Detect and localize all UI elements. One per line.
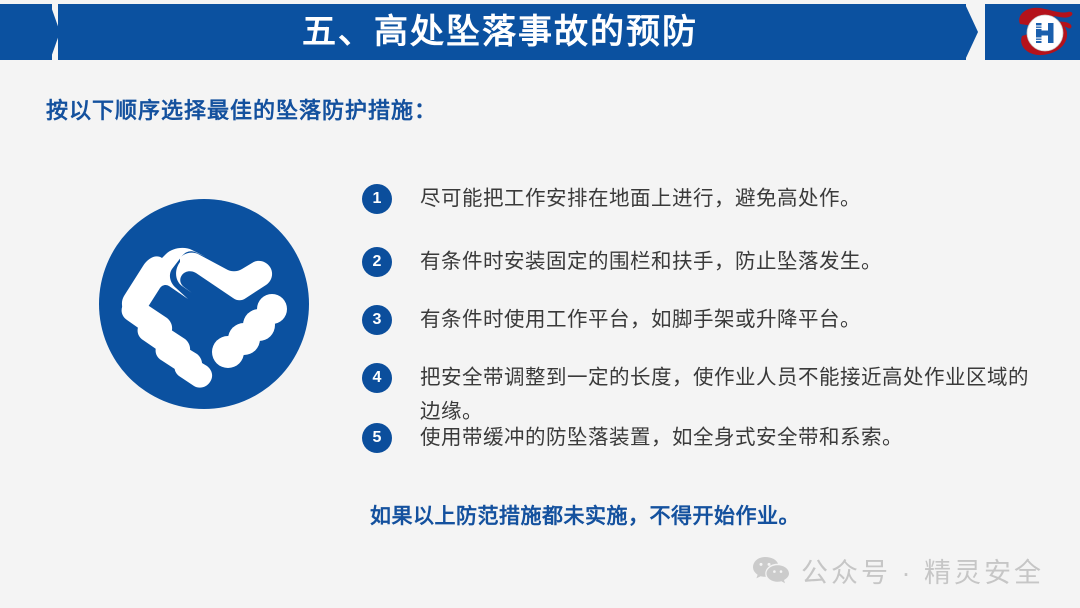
watermark: 公众号 · 精灵安全	[753, 551, 1044, 590]
wechat-icon	[753, 556, 789, 586]
list-item-text: 有条件时使用工作平台，如脚手架或升降平台。	[420, 303, 1030, 337]
list-item-number: 3	[362, 305, 392, 335]
list-item-text: 尽可能把工作安排在地面上进行，避免高处作。	[420, 182, 1030, 216]
company-logo	[1014, 2, 1076, 62]
list-item-text: 使用带缓冲的防坠落装置，如全身式安全带和系索。	[420, 421, 1030, 455]
list-item-number: 2	[362, 247, 392, 277]
header-bar: 五、高处坠落事故的预防	[0, 0, 1080, 62]
handshake-icon	[96, 196, 312, 412]
watermark-text: 公众号 · 精灵安全	[801, 551, 1044, 590]
list-item-text: 把安全带调整到一定的长度，使作业人员不能接近高处作业区域的边缘。	[420, 361, 1030, 429]
page-title: 五、高处坠落事故的预防	[0, 4, 1000, 60]
closing-note: 如果以上防范措施都未实施，不得开始作业。	[370, 500, 800, 530]
list-item-text: 有条件时安装固定的围栏和扶手，防止坠落发生。	[420, 245, 1030, 279]
list-item-number: 4	[362, 363, 392, 393]
section-subtitle: 按以下顺序选择最佳的坠落防护措施：	[46, 93, 437, 125]
list-item-number: 1	[362, 184, 392, 214]
list-item-number: 5	[362, 423, 392, 453]
